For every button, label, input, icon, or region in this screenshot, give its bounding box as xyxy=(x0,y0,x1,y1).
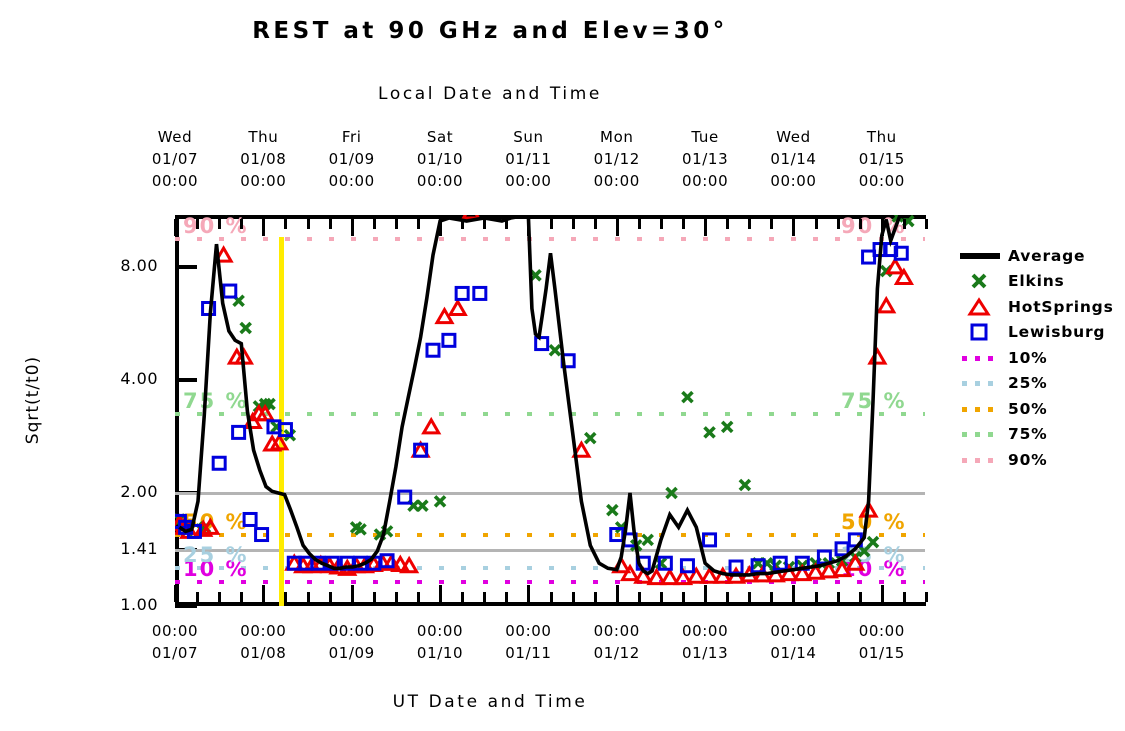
bottom-date-date: 01/11 xyxy=(483,642,573,664)
bottom-tick-minor xyxy=(660,592,663,602)
top-date-dow: Wed xyxy=(748,126,838,148)
top-date-dow: Fri xyxy=(307,126,397,148)
legend-item-50[interactable]: 50% xyxy=(960,396,1125,422)
bottom-tick-minor xyxy=(284,592,287,602)
bottom-date-column: 00:0001/07 xyxy=(130,620,220,664)
top-date-dow: Thu xyxy=(837,126,927,148)
bottom-tick-minor xyxy=(218,592,221,602)
top-tick-minor xyxy=(638,219,641,229)
bottom-tick-minor xyxy=(483,592,486,602)
legend-item-lewisburg[interactable]: Lewisburg xyxy=(960,320,1125,346)
bottom-tick-major xyxy=(262,585,265,602)
legend-label: HotSprings xyxy=(1008,298,1114,316)
bottom-tick-minor xyxy=(572,592,575,602)
top-tick-minor xyxy=(572,219,575,229)
bottom-date-column: 00:0001/11 xyxy=(483,620,573,664)
top-date-column: Thu01/1500:00 xyxy=(837,126,927,192)
bottom-tick-minor xyxy=(770,592,773,602)
bottom-date-date: 01/14 xyxy=(748,642,838,664)
top-date-date: 01/14 xyxy=(748,148,838,170)
top-tick-minor xyxy=(240,219,243,229)
bottom-tick-minor xyxy=(505,592,508,602)
bottom-date-date: 01/09 xyxy=(307,642,397,664)
top-date-time: 00:00 xyxy=(660,170,750,192)
bottom-tick-minor xyxy=(682,592,685,602)
bottom-tick-major xyxy=(616,585,619,602)
top-tick-minor xyxy=(284,219,287,229)
bottom-tick-minor xyxy=(925,592,928,602)
chart-title: REST at 90 GHz and Elev=30° xyxy=(0,18,980,44)
top-date-column: Tue01/1300:00 xyxy=(660,126,750,192)
top-tick-minor xyxy=(505,219,508,229)
bottom-tick-minor xyxy=(373,592,376,602)
top-tick-minor xyxy=(726,219,729,229)
top-tick-minor xyxy=(483,219,486,229)
bottom-date-time: 00:00 xyxy=(307,620,397,642)
elkins-marker xyxy=(550,345,560,355)
bottom-date-column: 00:0001/14 xyxy=(748,620,838,664)
elkins-marker xyxy=(607,505,617,515)
top-tick-major xyxy=(262,219,265,236)
top-date-dow: Thu xyxy=(218,126,308,148)
elkins-marker xyxy=(705,427,715,437)
bottom-date-time: 00:00 xyxy=(483,620,573,642)
lewisburg-marker xyxy=(836,543,848,555)
top-tick-minor xyxy=(594,219,597,229)
bottom-tick-minor xyxy=(903,592,906,602)
plot-area: 10 %25 %50 %75 %90 % 10 %25 %50 %75 %90 … xyxy=(175,215,925,605)
bottom-tick-minor xyxy=(196,592,199,602)
bottom-date-time: 00:00 xyxy=(660,620,750,642)
legend-line-swatch xyxy=(960,246,1000,266)
hotsprings-marker xyxy=(437,310,452,323)
bottom-tick-minor xyxy=(638,592,641,602)
top-date-time: 00:00 xyxy=(218,170,308,192)
bottom-tick-minor xyxy=(859,592,862,602)
top-date-column: Sat01/1000:00 xyxy=(395,126,485,192)
top-tick-minor xyxy=(859,219,862,229)
hotsprings-marker xyxy=(450,301,465,314)
elkins-marker xyxy=(859,546,869,556)
top-tick-minor xyxy=(196,219,199,229)
top-tick-major xyxy=(881,219,884,236)
legend-label: Lewisburg xyxy=(1008,323,1105,341)
top-date-date: 01/13 xyxy=(660,148,750,170)
cross-icon xyxy=(960,271,1000,291)
hotsprings-marker xyxy=(424,420,439,433)
hotsprings-marker xyxy=(870,350,885,363)
hotsprings-marker xyxy=(879,299,894,312)
elkins-marker xyxy=(417,501,427,511)
top-tick-minor xyxy=(461,219,464,229)
bottom-tick-minor xyxy=(815,592,818,602)
top-tick-minor xyxy=(815,219,818,229)
top-date-column: Sun01/1100:00 xyxy=(483,126,573,192)
top-date-date: 01/07 xyxy=(130,148,220,170)
top-date-date: 01/12 xyxy=(572,148,662,170)
bottom-tick-minor xyxy=(329,592,332,602)
series-elkins xyxy=(174,203,913,572)
top-date-date: 01/10 xyxy=(395,148,485,170)
bottom-date-column: 00:0001/15 xyxy=(837,620,927,664)
elkins-marker xyxy=(225,204,235,214)
top-date-date: 01/08 xyxy=(218,148,308,170)
top-tick-minor xyxy=(682,219,685,229)
top-date-column: Fri01/0900:00 xyxy=(307,126,397,192)
y-axis-label: Sqrt(t/t0) xyxy=(23,320,43,480)
dotted-line-swatch xyxy=(960,348,1000,368)
bottom-tick-minor xyxy=(417,592,420,602)
y-tick-label: 8.00 xyxy=(78,256,158,275)
bottom-tick-minor xyxy=(307,592,310,602)
legend-item-average[interactable]: Average xyxy=(960,243,1125,269)
bottom-tick-major xyxy=(704,585,707,602)
dotted-line-swatch xyxy=(960,399,1000,419)
top-tick-minor xyxy=(329,219,332,229)
bottom-date-date: 01/08 xyxy=(218,642,308,664)
dotted-line-swatch xyxy=(960,424,1000,444)
top-axis-title: Local Date and Time xyxy=(0,84,980,104)
bottom-axis-title: UT Date and Time xyxy=(0,692,980,712)
bottom-date-time: 00:00 xyxy=(572,620,662,642)
top-tick-minor xyxy=(660,219,663,229)
top-tick-minor xyxy=(550,219,553,229)
top-tick-major xyxy=(704,219,707,236)
elkins-marker xyxy=(585,433,595,443)
y-tick-label: 4.00 xyxy=(78,369,158,388)
lewisburg-marker xyxy=(213,457,225,469)
bottom-date-column: 00:0001/13 xyxy=(660,620,750,664)
bottom-date-date: 01/10 xyxy=(395,642,485,664)
hotsprings-marker xyxy=(888,260,903,273)
top-tick-minor xyxy=(770,219,773,229)
bottom-date-column: 00:0001/09 xyxy=(307,620,397,664)
bottom-tick-minor xyxy=(550,592,553,602)
legend-item-hotsprings[interactable]: HotSprings xyxy=(960,294,1125,320)
elkins-marker xyxy=(643,535,653,545)
bottom-tick-major xyxy=(174,585,177,602)
top-date-date: 01/09 xyxy=(307,148,397,170)
top-tick-major xyxy=(527,219,530,236)
bottom-date-time: 00:00 xyxy=(130,620,220,642)
bottom-tick-minor xyxy=(240,592,243,602)
legend-label: 10% xyxy=(1008,349,1048,367)
bottom-tick-major xyxy=(881,585,884,602)
bottom-date-time: 00:00 xyxy=(837,620,927,642)
bottom-tick-minor xyxy=(594,592,597,602)
bottom-date-column: 00:0001/10 xyxy=(395,620,485,664)
top-tick-minor xyxy=(373,219,376,229)
legend-item-75[interactable]: 75% xyxy=(960,422,1125,448)
bottom-tick-minor xyxy=(461,592,464,602)
top-date-dow: Tue xyxy=(660,126,750,148)
top-tick-major xyxy=(439,219,442,236)
bottom-date-date: 01/07 xyxy=(130,642,220,664)
top-tick-minor xyxy=(837,219,840,229)
elkins-marker xyxy=(740,480,750,490)
top-date-column: Wed01/0700:00 xyxy=(130,126,220,192)
elkins-marker xyxy=(241,323,251,333)
top-tick-major xyxy=(616,219,619,236)
bottom-date-column: 00:0001/08 xyxy=(218,620,308,664)
lewisburg-marker xyxy=(427,344,439,356)
legend-label: 90% xyxy=(1008,451,1048,469)
bottom-tick-major xyxy=(792,585,795,602)
legend-label: Average xyxy=(1008,247,1085,265)
elkins-marker xyxy=(219,203,229,213)
elkins-marker xyxy=(722,422,732,432)
top-date-time: 00:00 xyxy=(748,170,838,192)
bottom-tick-minor xyxy=(837,592,840,602)
lewisburg-marker xyxy=(456,287,468,299)
triangle-icon xyxy=(960,297,1000,317)
top-date-column: Mon01/1200:00 xyxy=(572,126,662,192)
bottom-date-column: 00:0001/12 xyxy=(572,620,662,664)
bottom-date-date: 01/12 xyxy=(572,642,662,664)
top-tick-major xyxy=(351,219,354,236)
top-tick-minor xyxy=(417,219,420,229)
legend-label: 75% xyxy=(1008,425,1048,443)
lewisburg-marker xyxy=(224,285,236,297)
elkins-marker xyxy=(435,496,445,506)
series-average-line xyxy=(179,217,908,575)
bottom-date-date: 01/13 xyxy=(660,642,750,664)
dotted-line-swatch xyxy=(960,450,1000,470)
hotsprings-marker xyxy=(463,205,478,218)
legend-label: 50% xyxy=(1008,400,1048,418)
top-date-dow: Sun xyxy=(483,126,573,148)
lewisburg-marker xyxy=(233,426,245,438)
top-date-time: 00:00 xyxy=(572,170,662,192)
top-date-column: Wed01/1400:00 xyxy=(748,126,838,192)
lewisburg-marker xyxy=(256,529,268,541)
bottom-tick-minor xyxy=(726,592,729,602)
y-tick-label: 1.41 xyxy=(78,539,158,558)
legend-item-elkins[interactable]: Elkins xyxy=(960,269,1125,295)
bottom-date-time: 00:00 xyxy=(218,620,308,642)
y-tick-label: 2.00 xyxy=(78,482,158,501)
y-tick-label: 1.00 xyxy=(78,595,158,614)
top-tick-major xyxy=(792,219,795,236)
top-date-time: 00:00 xyxy=(837,170,927,192)
lewisburg-marker xyxy=(443,334,455,346)
top-tick-minor xyxy=(748,219,751,229)
top-date-time: 00:00 xyxy=(483,170,573,192)
square-icon xyxy=(960,322,1000,342)
top-tick-minor xyxy=(307,219,310,229)
top-tick-minor xyxy=(925,219,928,229)
lewisburg-marker xyxy=(244,513,256,525)
top-date-time: 00:00 xyxy=(307,170,397,192)
legend-item-10[interactable]: 10% xyxy=(960,345,1125,371)
legend: AverageElkinsHotSpringsLewisburg10%25%50… xyxy=(960,243,1125,473)
bottom-tick-major xyxy=(527,585,530,602)
series-hotsprings xyxy=(172,205,911,584)
bottom-tick-minor xyxy=(395,592,398,602)
top-tick-minor xyxy=(218,219,221,229)
top-date-time: 00:00 xyxy=(395,170,485,192)
bottom-tick-major xyxy=(439,585,442,602)
lewisburg-marker xyxy=(474,287,486,299)
bottom-date-date: 01/15 xyxy=(837,642,927,664)
top-tick-minor xyxy=(395,219,398,229)
lewisburg-marker xyxy=(704,534,716,546)
top-date-dow: Wed xyxy=(130,126,220,148)
top-date-date: 01/11 xyxy=(483,148,573,170)
elkins-marker xyxy=(656,558,666,568)
lewisburg-marker xyxy=(536,338,548,350)
elkins-marker xyxy=(682,392,692,402)
top-tick-minor xyxy=(903,219,906,229)
top-tick-major xyxy=(174,219,177,236)
bottom-tick-minor xyxy=(748,592,751,602)
top-date-column: Thu01/0800:00 xyxy=(218,126,308,192)
data-series-layer xyxy=(175,215,925,605)
bottom-tick-major xyxy=(351,585,354,602)
top-date-time: 00:00 xyxy=(130,170,220,192)
legend-label: 25% xyxy=(1008,374,1048,392)
top-date-dow: Mon xyxy=(572,126,662,148)
top-date-dow: Sat xyxy=(395,126,485,148)
elkins-marker xyxy=(667,488,677,498)
top-date-date: 01/15 xyxy=(837,148,927,170)
legend-item-25[interactable]: 25% xyxy=(960,371,1125,397)
legend-label: Elkins xyxy=(1008,272,1065,290)
hotsprings-marker xyxy=(848,556,863,569)
legend-item-90[interactable]: 90% xyxy=(960,447,1125,473)
bottom-date-time: 00:00 xyxy=(748,620,838,642)
dotted-line-swatch xyxy=(960,373,1000,393)
series-lewisburg xyxy=(173,244,907,573)
elkins-marker xyxy=(868,537,878,547)
bottom-date-time: 00:00 xyxy=(395,620,485,642)
